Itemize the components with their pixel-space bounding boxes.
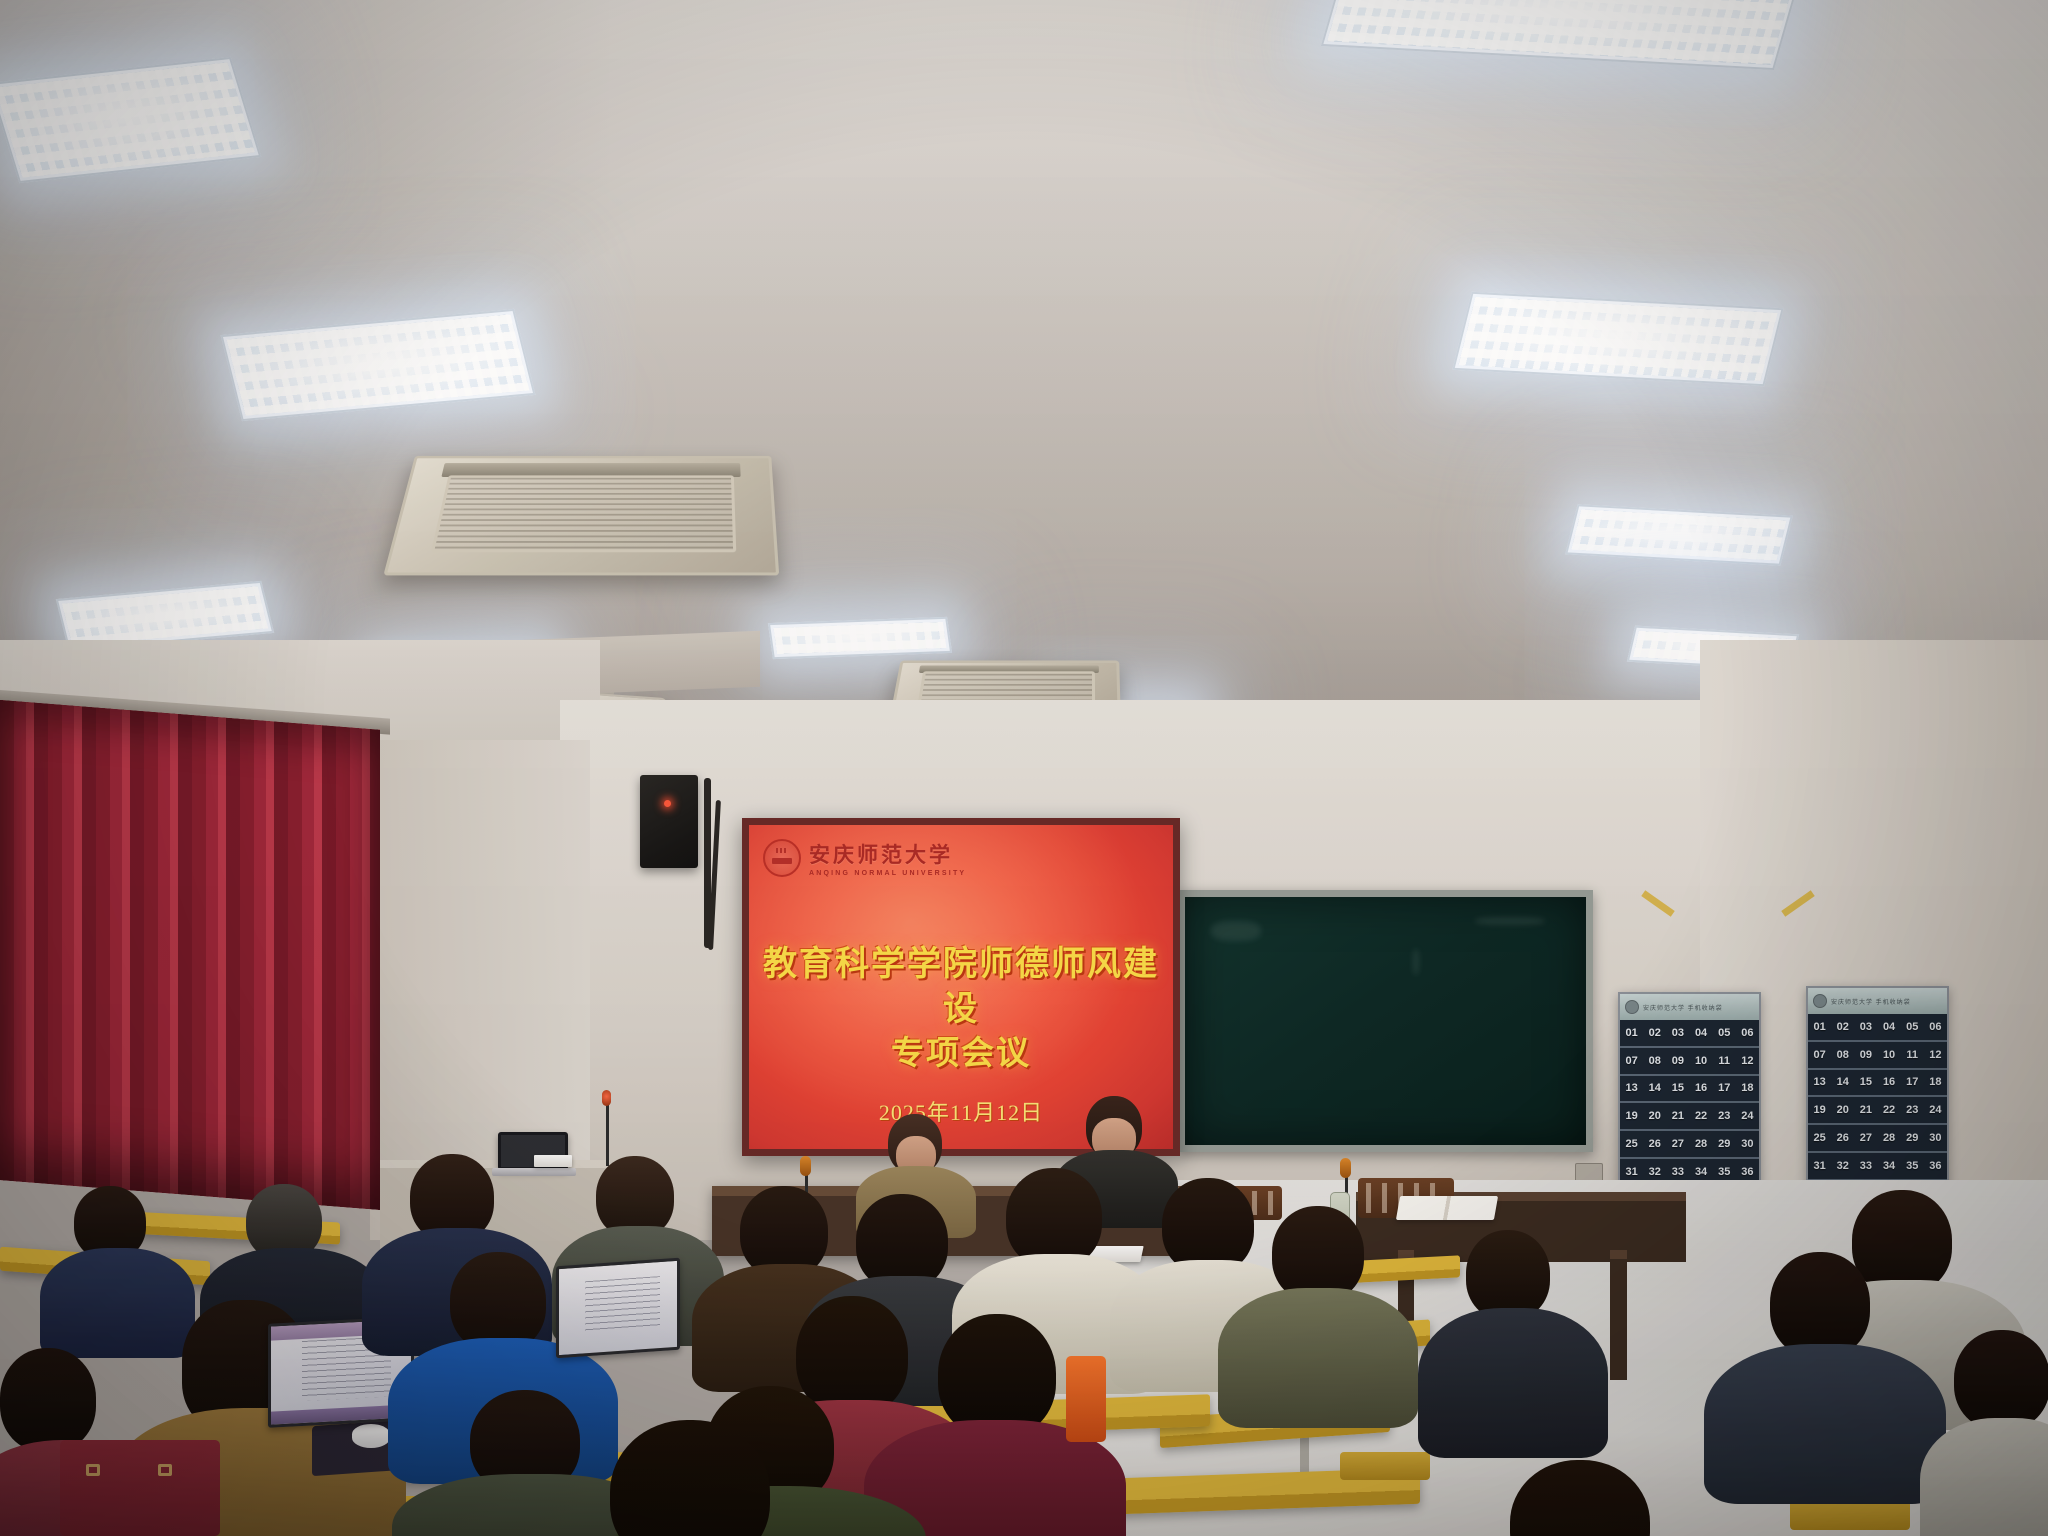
pocket-chart-cell: 18 [1924,1070,1947,1098]
pocket-chart-cell: 15 [1666,1076,1689,1104]
attendee-foreground [1470,1460,1690,1536]
pocket-chart-cell: 03 [1854,1014,1877,1042]
pocket-chart-cell: 28 [1877,1125,1900,1153]
pocket-chart-logo-icon [1625,1000,1639,1014]
pocket-chart-header: 安庆师范大学 手机收纳袋 [1808,988,1947,1014]
attendee-torso [1704,1344,1946,1504]
orange-thermos[interactable] [1066,1356,1106,1442]
pocket-chart-cell: 04 [1689,1020,1712,1048]
pocket-chart-logo-icon [1813,994,1827,1008]
attendee-torso [1218,1288,1418,1428]
slide-title: 教育科学学院师德师风建设 专项会议 [749,943,1173,1076]
attendee-head [1510,1460,1650,1536]
pocket-chart-cell: 20 [1831,1097,1854,1125]
pocket-chart-cell: 07 [1620,1048,1643,1076]
pocket-chart-cell: 21 [1666,1103,1689,1131]
pocket-chart-cell: 18 [1736,1076,1759,1104]
pocket-chart-cell: 25 [1620,1131,1643,1159]
attendee [1720,1252,1920,1482]
pocket-chart-cell: 27 [1854,1125,1877,1153]
chalk-smudge [1413,949,1419,975]
attendee [1226,1206,1406,1406]
attendee-torso [1920,1418,2048,1536]
pocket-chart-cell: 13 [1808,1070,1831,1098]
university-seal-icon [763,839,801,877]
pocket-chart-cell: 36 [1924,1153,1947,1181]
pocket-chart-cell: 05 [1713,1020,1736,1048]
pocket-chart-cell: 26 [1831,1125,1854,1153]
slide-title-line2: 专项会议 [749,1033,1173,1077]
microphone-head [602,1090,611,1106]
university-name-cn: 安庆师范大学 [809,839,966,869]
attendee-head [1466,1230,1550,1320]
pocket-chart-header-text: 安庆师范大学 手机收纳袋 [1643,1003,1723,1012]
pocket-chart-cell: 24 [1736,1103,1759,1131]
slide-title-line1: 教育科学学院师德师风建设 [749,943,1173,1033]
university-name-en: ANQING NORMAL UNIVERSITY [809,870,966,877]
pocket-chart-cell: 23 [1713,1103,1736,1131]
chalk-smudge [1211,921,1261,941]
pocket-chart-cell: 09 [1854,1042,1877,1070]
pocket-chart-cell: 19 [1808,1097,1831,1125]
pocket-chart-cell: 12 [1924,1042,1947,1070]
pocket-chart-cell: 03 [1666,1020,1689,1048]
attendee-head [1954,1330,2048,1430]
red-curtain [0,700,380,1210]
pocket-chart-cell: 11 [1901,1042,1924,1070]
pocket-chart-cell: 30 [1924,1125,1947,1153]
pocket-chart-cell: 16 [1689,1076,1712,1104]
attendee-head [1006,1168,1102,1268]
bag-buckle [86,1464,100,1476]
pocket-chart-cell: 22 [1877,1097,1900,1125]
pocket-chart-cell: 23 [1901,1097,1924,1125]
pocket-chart-cell: 21 [1854,1097,1877,1125]
pocket-chart-cell: 31 [1808,1153,1831,1181]
university-logo: 安庆师范大学 ANQING NORMAL UNIVERSITY [763,839,966,877]
pocket-chart-cell: 08 [1831,1042,1854,1070]
pocket-chart-cell: 09 [1666,1048,1689,1076]
bag-buckle [158,1464,172,1476]
pocket-chart-cell: 14 [1831,1070,1854,1098]
pocket-chart-cell: 28 [1689,1131,1712,1159]
wall-speaker [640,775,698,868]
pocket-chart-cell: 19 [1620,1103,1643,1131]
blackboard [1178,890,1593,1152]
side-table-right-leg [1610,1250,1627,1380]
pocket-chart-cell: 17 [1901,1070,1924,1098]
pocket-chart-cell: 34 [1877,1153,1900,1181]
pocket-chart-header: 安庆师范大学 手机收纳袋 [1620,994,1759,1020]
university-name-block: 安庆师范大学 ANQING NORMAL UNIVERSITY [809,839,966,877]
attendee-torso [1418,1308,1608,1458]
pocket-chart-cell: 16 [1877,1070,1900,1098]
pocket-chart-cell: 24 [1924,1097,1947,1125]
attendee-foreground [540,1420,840,1536]
pocket-chart-cell: 32 [1831,1153,1854,1181]
ceiling-light-troffer [768,617,952,659]
red-handbag [60,1440,220,1536]
pocket-chart-header-text: 安庆师范大学 手机收纳袋 [1831,997,1911,1006]
ac-grille [431,475,737,553]
attendee-laptop-screen[interactable] [556,1258,680,1359]
attendee [1430,1230,1590,1430]
pocket-chart-cell: 26 [1643,1131,1666,1159]
pocket-chart-cell: 01 [1808,1014,1831,1042]
ceiling-light-troffer [1452,292,1783,387]
pocket-chart-cell: 29 [1901,1125,1924,1153]
open-notebook [1396,1196,1498,1220]
pocket-chart-cell: 14 [1643,1076,1666,1104]
pocket-chart-cell: 35 [1901,1153,1924,1181]
pocket-chart-cell: 10 [1689,1048,1712,1076]
pocket-chart-cell: 12 [1736,1048,1759,1076]
pocket-chart-cell: 20 [1643,1103,1666,1131]
pocket-chart-cell: 29 [1713,1131,1736,1159]
pocket-chart-cell: 17 [1713,1076,1736,1104]
pocket-chart-cell: 08 [1643,1048,1666,1076]
pocket-chart-cell: 04 [1877,1014,1900,1042]
computer-mouse[interactable] [352,1424,390,1448]
pocket-chart-cell: 06 [1736,1020,1759,1048]
attendee-head [450,1252,546,1352]
microphone-head [800,1156,811,1176]
pocket-chart-cell: 07 [1808,1042,1831,1070]
attendee-head [610,1420,770,1536]
classroom-chair[interactable] [1340,1452,1430,1480]
pocket-chart-cell: 02 [1831,1014,1854,1042]
pocket-chart-cell: 06 [1924,1014,1947,1042]
classroom-photo-scene: 安庆师范大学 手机收纳袋 010203040506070809101112131… [0,0,2048,1536]
microphone-head [1340,1158,1351,1178]
ceiling-ac-unit [383,456,779,576]
attendee-head [1770,1252,1870,1358]
pocket-chart-cell: 11 [1713,1048,1736,1076]
laptop-document-lines [585,1276,661,1335]
pocket-chart-cell: 30 [1736,1131,1759,1159]
pocket-chart-cell: 15 [1854,1070,1877,1098]
pocket-chart-cell: 25 [1808,1125,1831,1153]
pocket-chart-cell: 01 [1620,1020,1643,1048]
speaker-power-led [664,800,671,807]
pocket-chart-cell: 02 [1643,1020,1666,1048]
pocket-chart-cell: 27 [1666,1131,1689,1159]
pocket-chart-cell: 13 [1620,1076,1643,1104]
pocket-chart-cell: 33 [1854,1153,1877,1181]
attendee [1930,1330,2048,1536]
attendee-head [0,1348,96,1452]
chalk-smudge [1475,917,1545,925]
pocket-chart-cell: 22 [1689,1103,1712,1131]
pocket-chart-cell: 10 [1877,1042,1900,1070]
pocket-chart-cell: 05 [1901,1014,1924,1042]
